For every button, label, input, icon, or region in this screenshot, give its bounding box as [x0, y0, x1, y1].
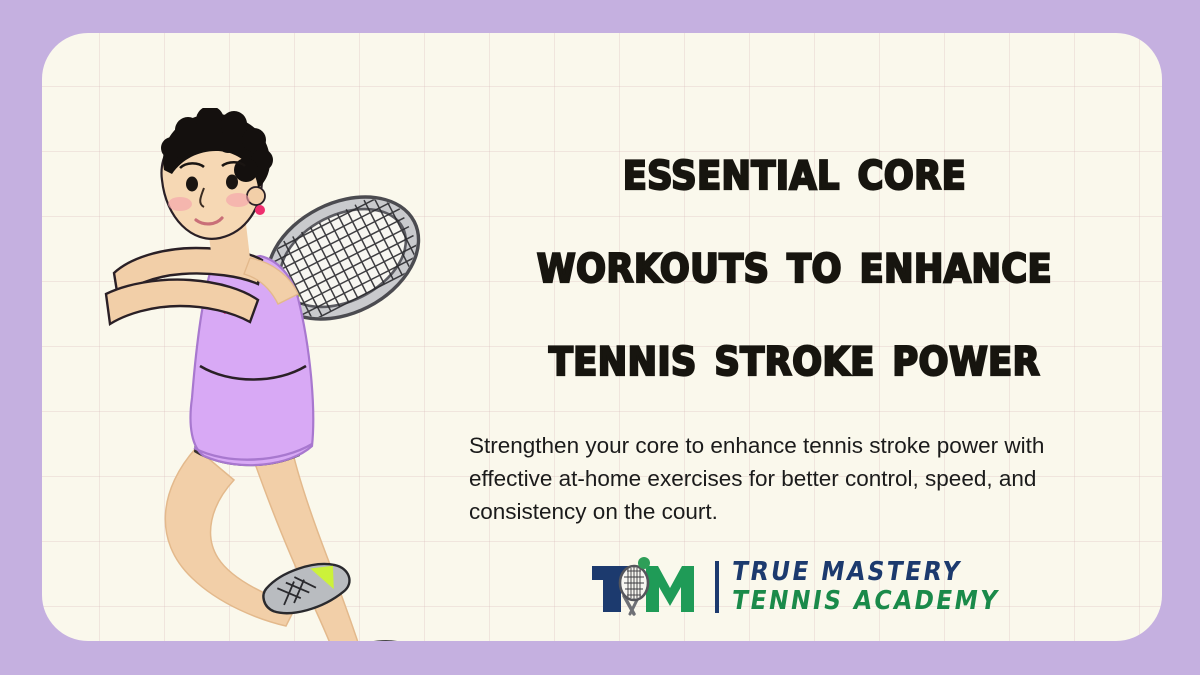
subheading-text: Strengthen your core to enhance tennis s…: [427, 429, 1087, 528]
tennis-player-illustration: [100, 108, 440, 641]
left-eye: [186, 177, 198, 192]
headline-line-3: TENNIS STROKE POWER: [427, 310, 1162, 403]
brand-logo: TRUE MASTERY TENNIS ACADEMY: [427, 556, 1162, 618]
tennis-ball-icon: [638, 557, 650, 569]
legs: [165, 438, 368, 641]
earring: [255, 205, 265, 215]
content-column: ESSENTIAL CORE WORKOUTS TO ENHANCE TENNI…: [427, 88, 1162, 641]
poster-canvas: ESSENTIAL CORE WORKOUTS TO ENHANCE TENNI…: [0, 0, 1200, 675]
right-eye: [226, 175, 238, 190]
page-title: ESSENTIAL CORE WORKOUTS TO ENHANCE TENNI…: [427, 88, 1162, 403]
logo-wordmark: TRUE MASTERY TENNIS ACADEMY: [732, 559, 999, 615]
headline-line-1: ESSENTIAL CORE: [427, 124, 1162, 217]
headline-line-2: WORKOUTS TO ENHANCE: [427, 217, 1162, 310]
tm-monogram-icon: [590, 556, 702, 618]
wordmark-line-2: TENNIS ACADEMY: [730, 588, 1002, 615]
content-card: ESSENTIAL CORE WORKOUTS TO ENHANCE TENNI…: [42, 33, 1162, 641]
logo-divider: [715, 561, 719, 613]
wordmark-line-1: TRUE MASTERY: [730, 559, 1002, 586]
head: [161, 108, 273, 260]
